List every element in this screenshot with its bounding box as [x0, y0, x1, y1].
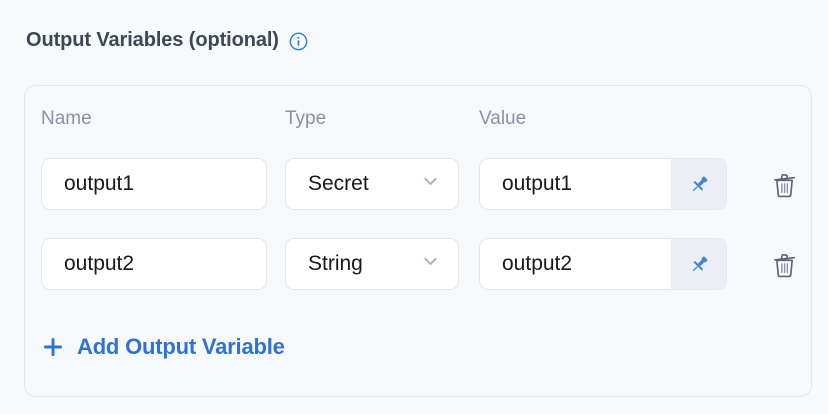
variable-type-select[interactable]: Secret — [285, 158, 459, 210]
variable-value-input[interactable]: output1 — [480, 159, 672, 209]
trash-icon — [771, 252, 798, 279]
table-row: output1 Secret output1 — [25, 158, 811, 214]
variable-value-group: output1 — [479, 158, 727, 210]
variable-type-select[interactable]: String — [285, 238, 459, 290]
add-output-variable-button[interactable]: Add Output Variable — [41, 334, 285, 360]
output-variables-card: Name Type Value output1 Secret output1 — [24, 85, 812, 397]
section-header: Output Variables (optional) — [26, 26, 308, 54]
variable-type-value: String — [308, 252, 363, 276]
table-row: output2 String output2 — [25, 238, 811, 294]
output-variable-rows: output1 Secret output1 — [25, 158, 811, 318]
pin-value-button[interactable] — [672, 159, 726, 209]
chevron-down-icon — [421, 172, 446, 197]
table-column-headers: Name Type Value — [25, 108, 811, 132]
column-header-value: Value — [479, 108, 526, 130]
variable-name-input[interactable]: output2 — [41, 238, 267, 290]
variable-value-input[interactable]: output2 — [480, 239, 672, 289]
delete-row-button[interactable] — [765, 166, 803, 204]
variable-value-group: output2 — [479, 238, 727, 290]
pushpin-icon — [688, 173, 711, 196]
add-output-variable-label: Add Output Variable — [77, 334, 285, 360]
column-header-type: Type — [285, 108, 326, 130]
chevron-down-icon — [421, 252, 446, 277]
page-title: Output Variables (optional) — [26, 29, 279, 52]
trash-icon — [771, 172, 798, 199]
pin-value-button[interactable] — [672, 239, 726, 289]
variable-type-value: Secret — [308, 172, 369, 196]
column-header-name: Name — [41, 108, 92, 130]
pushpin-icon — [688, 253, 711, 276]
delete-row-button[interactable] — [765, 246, 803, 284]
variable-name-input[interactable]: output1 — [41, 158, 267, 210]
info-circle-icon[interactable] — [289, 30, 308, 51]
plus-icon — [41, 335, 65, 359]
